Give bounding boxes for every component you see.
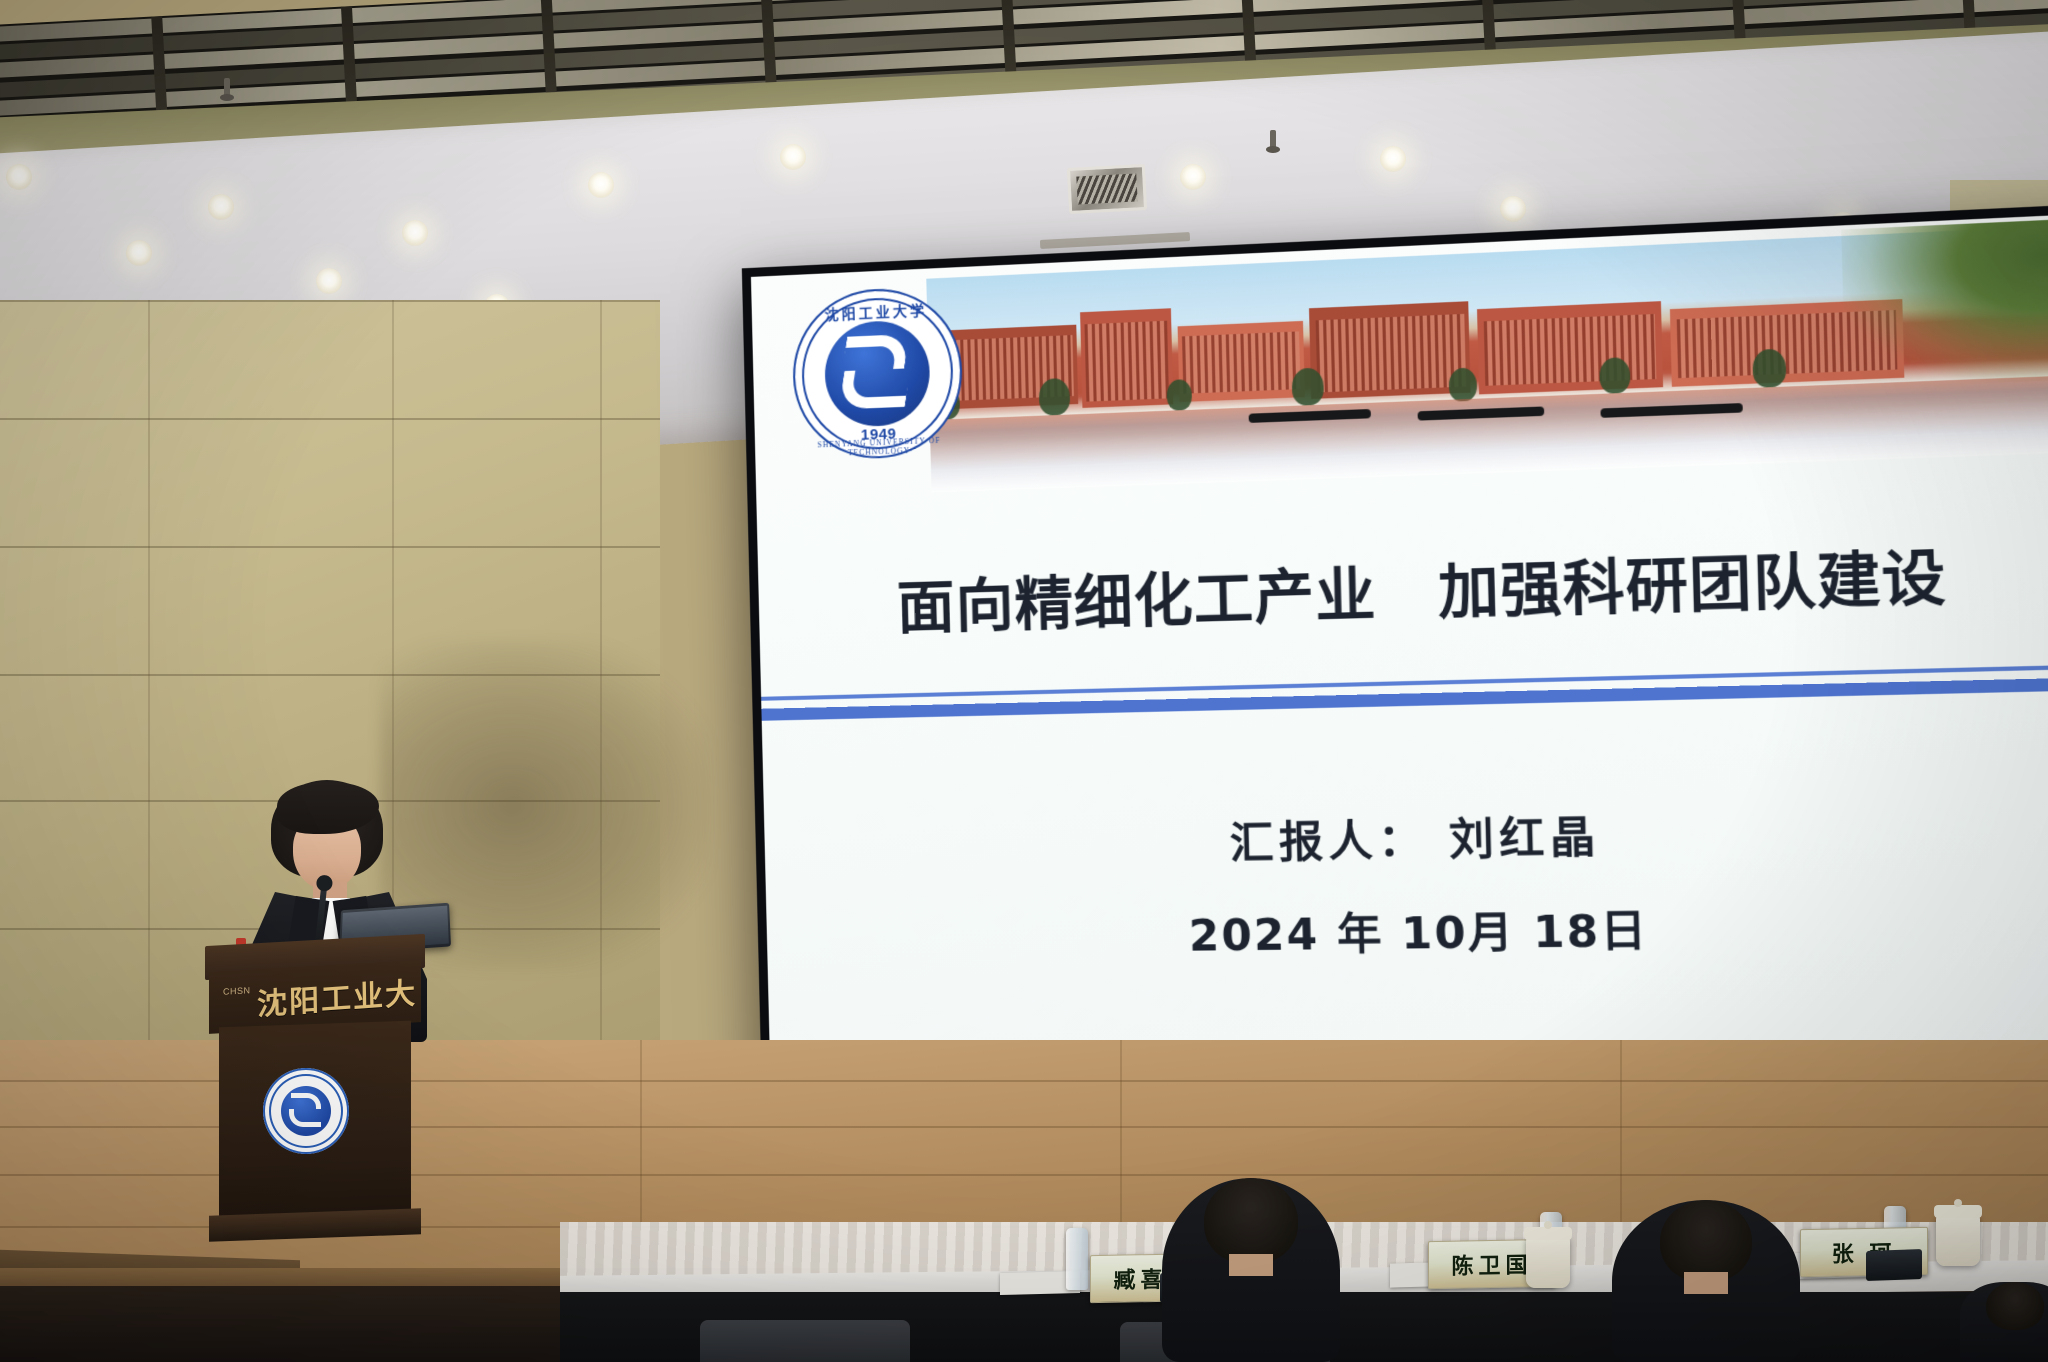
ceiling-downlight	[208, 194, 234, 220]
sprinkler-head	[1270, 130, 1276, 150]
slide-date: 2024 年 10月 18日	[766, 890, 2048, 968]
podium-university-emblem	[263, 1068, 349, 1154]
willow-tree	[1841, 217, 2048, 388]
presentation-slide: 沈阳工业大学 1949 SHENYANG UNIVERSITY OF TECHN…	[751, 213, 2048, 1101]
slide-presenter: 汇报人： 刘红晶	[764, 793, 2048, 878]
chair-back	[700, 1320, 910, 1362]
podium-emblem-monogram	[281, 1086, 331, 1136]
attendee-head	[1660, 1200, 1752, 1282]
slide-divider-rule	[761, 664, 2048, 723]
ceiling-downlight	[780, 144, 806, 170]
projection-screen[interactable]: 沈阳工业大学 1949 SHENYANG UNIVERSITY OF TECHN…	[742, 203, 2048, 1110]
ceiling-downlight	[1180, 164, 1206, 190]
attendee-head	[1204, 1178, 1298, 1264]
attendee-neck	[1229, 1254, 1273, 1276]
ceiling-downlight	[316, 268, 342, 294]
seated-attendee	[1162, 1178, 1340, 1362]
attendee-head	[1986, 1282, 2044, 1330]
slide-title: 面向精细化工产业 加强科研团队建设	[758, 525, 2048, 649]
ceiling-downlight	[6, 164, 32, 190]
sprinkler-head	[224, 78, 230, 98]
water-bottle	[1066, 1228, 1088, 1290]
tea-cup	[1526, 1236, 1570, 1288]
lectern-podium: CHSN 沈阳工业大学	[205, 940, 425, 1270]
attendee-neck	[1684, 1272, 1728, 1294]
seated-attendee	[1960, 1282, 2048, 1362]
podium-brand-mark: CHSN	[223, 985, 251, 997]
conference-hall-photo: 沈阳工业大学 1949 SHENYANG UNIVERSITY OF TECHN…	[0, 0, 2048, 1362]
seal-monogram	[824, 319, 931, 428]
seated-attendee	[1612, 1200, 1800, 1362]
ceiling-downlight	[402, 220, 428, 246]
ceiling-downlight	[1380, 146, 1406, 172]
ceiling-downlight	[1500, 196, 1526, 222]
ceiling-downlight	[588, 172, 614, 198]
tablet-device[interactable]	[1866, 1249, 1922, 1281]
ceiling-downlight	[126, 240, 152, 266]
tea-cup	[1936, 1214, 1980, 1266]
ceiling-air-vent	[1067, 164, 1147, 214]
university-seal-logo: 沈阳工业大学 1949 SHENYANG UNIVERSITY OF TECHN…	[791, 285, 964, 461]
